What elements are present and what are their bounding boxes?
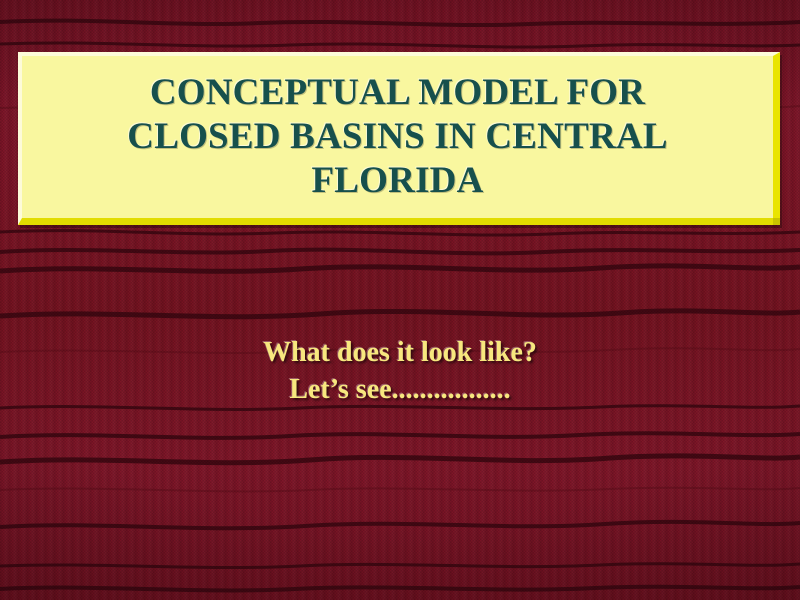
slide-title: CONCEPTUAL MODEL FOR CLOSED BASINS IN CE… bbox=[22, 71, 773, 203]
title-line-1: CONCEPTUAL MODEL FOR bbox=[22, 71, 773, 115]
subtitle-line-2: Let’s see................. bbox=[0, 371, 800, 408]
title-line-3: FLORIDA bbox=[22, 159, 773, 203]
title-plaque: CONCEPTUAL MODEL FOR CLOSED BASINS IN CE… bbox=[18, 52, 780, 225]
slide-subtitle: What does it look like? Let’s see.......… bbox=[0, 334, 800, 408]
subtitle-line-1: What does it look like? bbox=[0, 334, 800, 371]
presentation-slide: CONCEPTUAL MODEL FOR CLOSED BASINS IN CE… bbox=[0, 0, 800, 600]
title-line-2: CLOSED BASINS IN CENTRAL bbox=[22, 115, 773, 159]
